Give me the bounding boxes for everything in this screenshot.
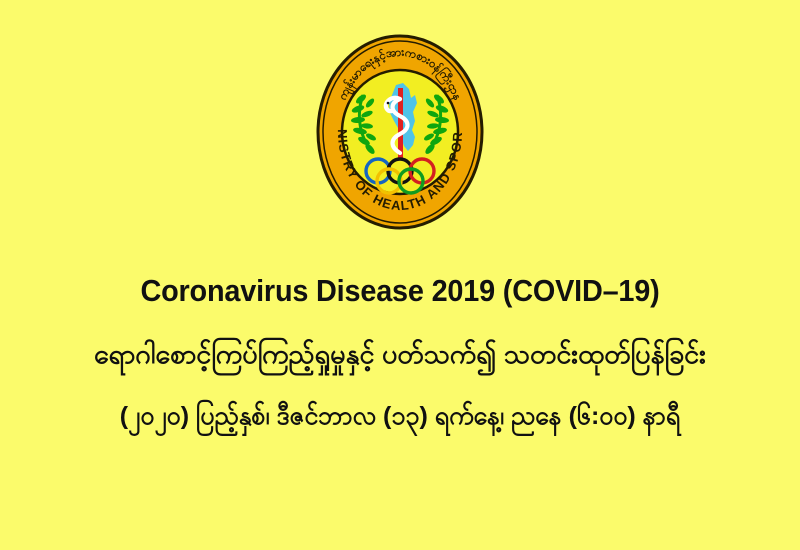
snake-eye-icon: [387, 102, 390, 105]
emblem-svg: ကျန်းမာရေးနှင့်အားကစားဝန်ကြီးဌာန MINISTR…: [316, 33, 484, 231]
ministry-emblem: ကျန်းမာရေးနှင့်အားကစားဝန်ကြီးဌာန MINISTR…: [316, 33, 484, 231]
title-burmese: ရောဂါစောင့်ကြပ်ကြည့်ရှုမှုနှင့် ပတ်သက်၍ …: [0, 328, 800, 380]
announcement-slide: ကျန်းမာရေးနှင့်အားကစားဝန်ကြီးဌာန MINISTR…: [0, 0, 800, 550]
title-date-burmese: (၂၀၂၀) ပြည့်နှစ်၊ ဒီဇင်ဘာလ (၁၃) ရက်နေ့၊ …: [0, 392, 800, 440]
title-english: Coronavirus Disease 2019 (COVID–19): [28, 272, 772, 310]
headline-block: Coronavirus Disease 2019 (COVID–19) ရောဂ…: [0, 272, 800, 440]
